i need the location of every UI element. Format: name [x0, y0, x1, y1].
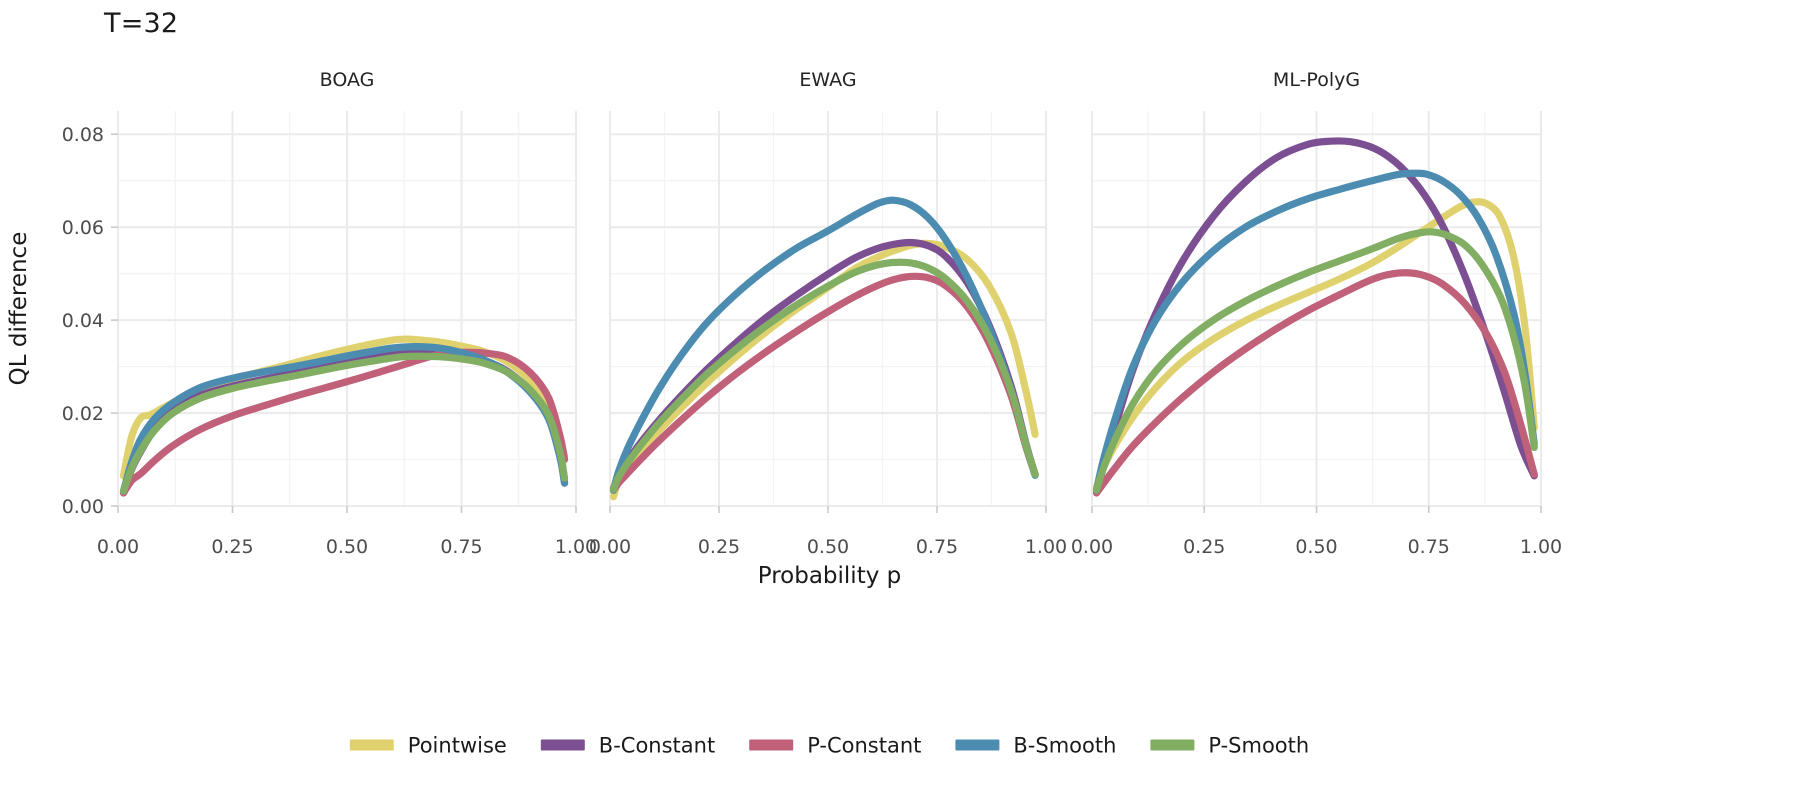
- y-tick-label: 0.08: [62, 124, 104, 146]
- legend-item-label: P-Constant: [807, 734, 921, 758]
- legend-layer: PointwiseB-ConstantP-ConstantB-SmoothP-S…: [350, 734, 1309, 758]
- x-axis-title: Probability p: [758, 563, 902, 589]
- x-tick-label: 0.25: [211, 536, 253, 558]
- legend-item-label: Pointwise: [408, 734, 507, 758]
- y-tick-label: 0.00: [62, 496, 104, 518]
- y-tick-label: 0.04: [62, 310, 104, 332]
- legend-line-swatch-icon: [955, 740, 999, 751]
- legend-item-b-smooth[interactable]: B-Smooth: [955, 734, 1116, 758]
- x-tick-label: 0.50: [1295, 536, 1337, 558]
- legend-item-b-constant[interactable]: B-Constant: [541, 734, 715, 758]
- y-tick-label: 0.06: [62, 217, 104, 239]
- legend-line-swatch-icon: [749, 740, 793, 751]
- legend-item-p-constant[interactable]: P-Constant: [749, 734, 921, 758]
- x-tick-label: 1.00: [1025, 536, 1067, 558]
- facet-panel-boag: [118, 111, 576, 506]
- x-tick-label: 0.75: [916, 536, 958, 558]
- legend-item-label: B-Smooth: [1013, 734, 1116, 758]
- x-tick-label: 0.75: [1408, 536, 1450, 558]
- panel-strip-label-boag: BOAG: [320, 69, 375, 91]
- x-tick-label: 1.00: [1520, 536, 1562, 558]
- chart-canvas: BOAG0.000.250.500.751.00EWAG0.000.250.50…: [0, 0, 1800, 800]
- legend-line-swatch-icon: [350, 740, 394, 751]
- x-tick-label: 0.25: [1183, 536, 1225, 558]
- y-axis-title: QL difference: [6, 232, 32, 386]
- legend-item-pointwise[interactable]: Pointwise: [350, 734, 507, 758]
- legend-item-p-smooth[interactable]: P-Smooth: [1150, 734, 1309, 758]
- chart-figure: T=32 BOAG0.000.250.500.751.00EWAG0.000.2…: [0, 0, 1800, 800]
- x-tick-label: 0.00: [589, 536, 631, 558]
- x-tick-label: 0.75: [440, 536, 482, 558]
- x-tick-label: 0.50: [807, 536, 849, 558]
- y-tick-label: 0.02: [62, 403, 104, 425]
- x-tick-label: 0.00: [97, 536, 139, 558]
- x-tick-label: 0.25: [698, 536, 740, 558]
- legend-item-label: P-Smooth: [1208, 734, 1309, 758]
- legend-line-swatch-icon: [541, 740, 585, 751]
- x-tick-label: 0.00: [1071, 536, 1113, 558]
- panel-strip-label-ml-polyg: ML-PolyG: [1273, 69, 1360, 91]
- x-tick-label: 0.50: [326, 536, 368, 558]
- panel-strip-label-ewag: EWAG: [799, 69, 856, 91]
- legend-line-swatch-icon: [1150, 740, 1194, 751]
- legend-item-label: B-Constant: [599, 734, 715, 758]
